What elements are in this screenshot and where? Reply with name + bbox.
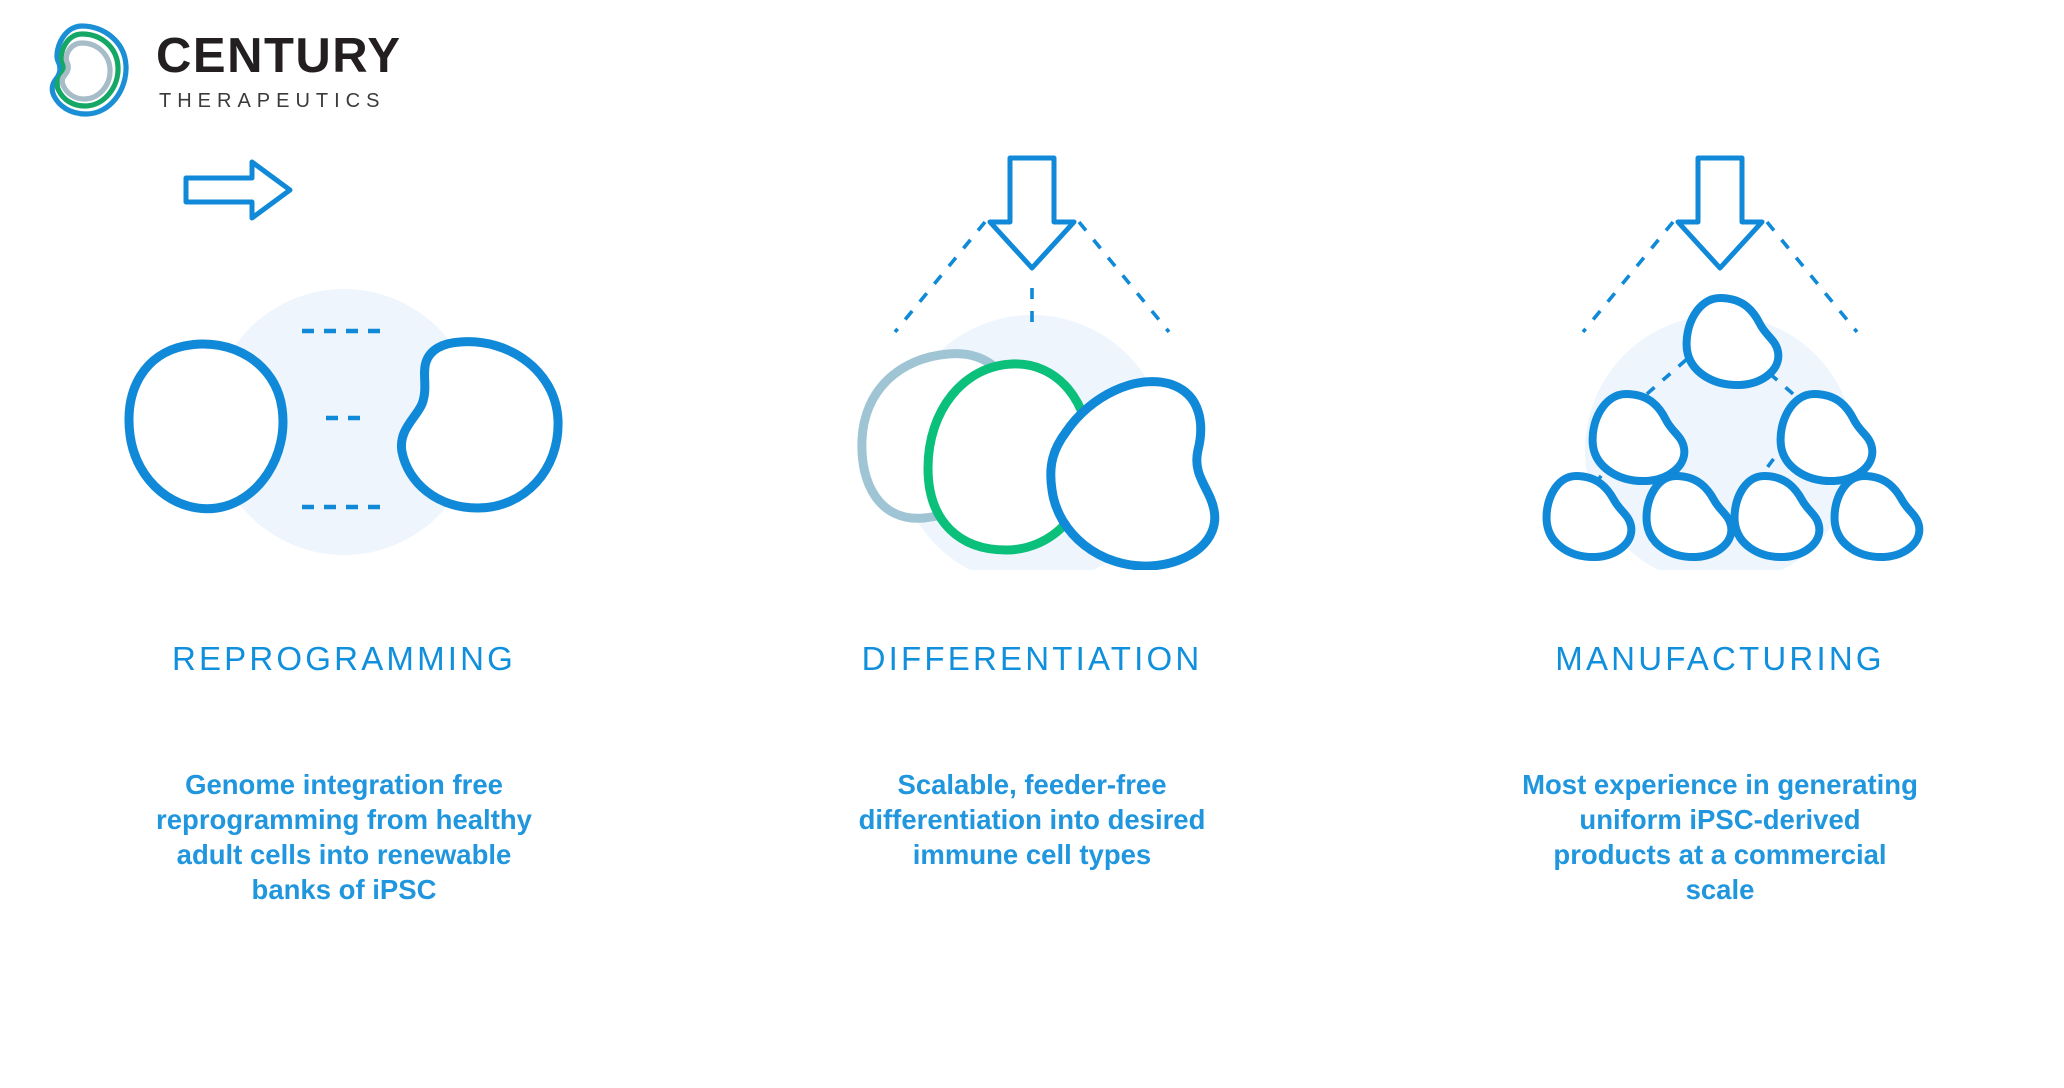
brand-wordmark: CENTURY THERAPEUTICS	[156, 30, 402, 111]
panel-title-reprogramming: REPROGRAMMING	[172, 640, 516, 678]
arrow-down-outline-icon	[990, 158, 1074, 268]
panel-manufacturing: MANUFACTURING Most experience in generat…	[1376, 150, 2064, 908]
process-panels: REPROGRAMMING Genome integration free re…	[0, 150, 2064, 908]
panel-body-differentiation: Scalable, feeder-free differentiation in…	[837, 768, 1227, 873]
arrow-down-outline-icon	[1678, 158, 1762, 268]
panel-title-differentiation: DIFFERENTIATION	[862, 640, 1203, 678]
panel-differentiation: DIFFERENTIATION Scalable, feeder-free di…	[688, 150, 1376, 908]
brand-name: CENTURY	[156, 32, 402, 81]
two-cells-dividing-icon	[64, 150, 624, 570]
panel-title-manufacturing: MANUFACTURING	[1555, 640, 1884, 678]
brand-subtitle: THERAPEUTICS	[159, 91, 402, 111]
panel-body-reprogramming: Genome integration free reprogramming fr…	[134, 768, 554, 908]
panel-body-manufacturing: Most experience in generating uniform iP…	[1520, 768, 1920, 908]
arrow-right-outline-icon	[186, 162, 290, 218]
brand-logo: CENTURY THERAPEUTICS	[30, 18, 402, 122]
panel-reprogramming: REPROGRAMMING Genome integration free re…	[0, 150, 688, 908]
three-overlapping-cells-icon	[752, 150, 1312, 570]
century-organic-rings-logo-icon	[30, 18, 134, 122]
cell-expansion-tree-icon	[1440, 150, 2000, 570]
